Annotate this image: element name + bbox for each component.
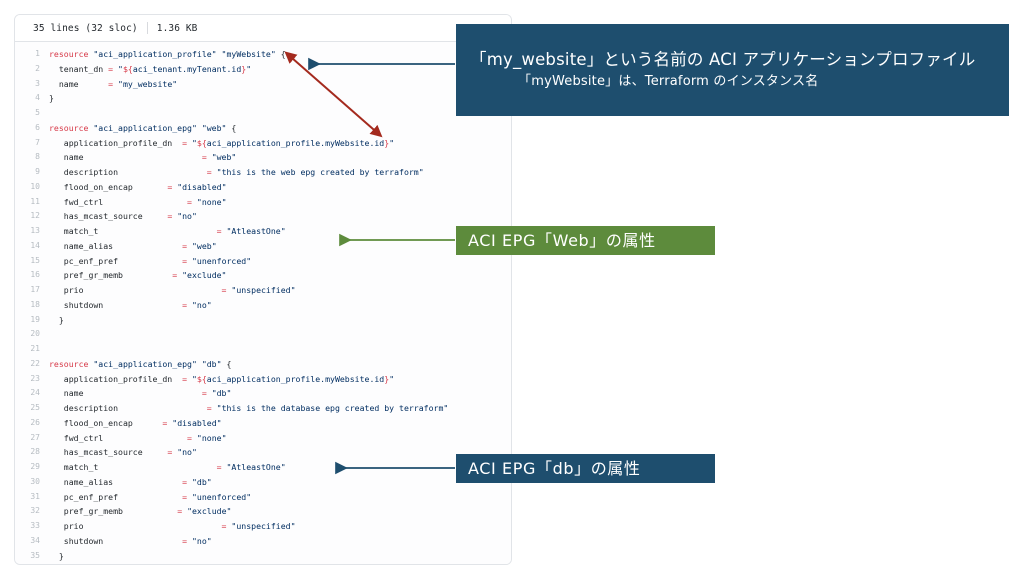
- file-size-label: 1.36 KB: [157, 23, 198, 34]
- line-number: 28: [15, 445, 49, 460]
- line-code: has_mcast_source = "no": [49, 445, 511, 460]
- code-line: 27 fwd_ctrl = "none": [15, 431, 511, 446]
- line-code: resource "aci_application_epg" "db" {: [49, 357, 511, 372]
- line-code: name_alias = "db": [49, 475, 511, 490]
- line-code: name = "my_website": [49, 77, 511, 92]
- code-line: 13 match_t = "AtleastOne": [15, 224, 511, 239]
- line-code: tenant_dn = "${aci_tenant.myTenant.id}": [49, 62, 511, 77]
- line-number: 19: [15, 313, 49, 328]
- line-code: pc_enf_pref = "unenforced": [49, 490, 511, 505]
- line-number: 29: [15, 460, 49, 475]
- code-line: 3 name = "my_website": [15, 77, 511, 92]
- line-number: 23: [15, 372, 49, 387]
- code-line: 21: [15, 342, 511, 357]
- line-number: 13: [15, 224, 49, 239]
- code-line: 25 description = "this is the database e…: [15, 401, 511, 416]
- code-line: 22resource "aci_application_epg" "db" {: [15, 357, 511, 372]
- code-line: 28 has_mcast_source = "no": [15, 445, 511, 460]
- line-code: match_t = "AtleastOne": [49, 224, 511, 239]
- code-line: 30 name_alias = "db": [15, 475, 511, 490]
- line-number: 17: [15, 283, 49, 298]
- code-line: 15 pc_enf_pref = "unenforced": [15, 254, 511, 269]
- code-line: 6resource "aci_application_epg" "web" {: [15, 121, 511, 136]
- code-line: 4}: [15, 91, 511, 106]
- line-number: 5: [15, 106, 49, 121]
- code-line: 26 flood_on_encap = "disabled": [15, 416, 511, 431]
- line-code: [49, 327, 511, 342]
- line-number: 30: [15, 475, 49, 490]
- callout-epg-web: ACI EPG「Web」の属性: [456, 226, 715, 255]
- line-code: application_profile_dn = "${aci_applicat…: [49, 136, 511, 151]
- line-code: name = "db": [49, 386, 511, 401]
- line-code: description = "this is the web epg creat…: [49, 165, 511, 180]
- code-line: 31 pc_enf_pref = "unenforced": [15, 490, 511, 505]
- line-number: 12: [15, 209, 49, 224]
- code-line: 17 prio = "unspecified": [15, 283, 511, 298]
- line-number: 33: [15, 519, 49, 534]
- code-line: 20: [15, 327, 511, 342]
- line-code: description = "this is the database epg …: [49, 401, 511, 416]
- line-number: 34: [15, 534, 49, 549]
- line-code: match_t = "AtleastOne": [49, 460, 511, 475]
- code-line: 7 application_profile_dn = "${aci_applic…: [15, 136, 511, 151]
- code-line: 8 name = "web": [15, 150, 511, 165]
- code-line: 29 match_t = "AtleastOne": [15, 460, 511, 475]
- code-line: 34 shutdown = "no": [15, 534, 511, 549]
- code-line: 23 application_profile_dn = "${aci_appli…: [15, 372, 511, 387]
- line-code: prio = "unspecified": [49, 283, 511, 298]
- line-number: 32: [15, 504, 49, 519]
- callout-profile-sub-text: 「myWebsite」は、Terraform のインスタンス名: [470, 71, 997, 93]
- line-number: 3: [15, 77, 49, 92]
- line-code: flood_on_encap = "disabled": [49, 180, 511, 195]
- line-number: 31: [15, 490, 49, 505]
- code-line: 12 has_mcast_source = "no": [15, 209, 511, 224]
- line-number: 25: [15, 401, 49, 416]
- line-code: has_mcast_source = "no": [49, 209, 511, 224]
- code-line: 1resource "aci_application_profile" "myW…: [15, 47, 511, 62]
- code-line: 2 tenant_dn = "${aci_tenant.myTenant.id}…: [15, 62, 511, 77]
- callout-profile-main-text: 「my_website」という名前の ACI アプリケーションプロファイル: [470, 48, 997, 71]
- line-number: 26: [15, 416, 49, 431]
- line-number: 8: [15, 150, 49, 165]
- line-code: [49, 106, 511, 121]
- line-code: }: [49, 549, 511, 564]
- code-line: 33 prio = "unspecified": [15, 519, 511, 534]
- line-number: 11: [15, 195, 49, 210]
- code-line: 5: [15, 106, 511, 121]
- callout-epg-db: ACI EPG「db」の属性: [456, 454, 715, 483]
- file-meta-header: 35 lines (32 sloc) 1.36 KB: [15, 15, 511, 42]
- line-number: 24: [15, 386, 49, 401]
- line-number: 2: [15, 62, 49, 77]
- line-code: name = "web": [49, 150, 511, 165]
- line-code: fwd_ctrl = "none": [49, 431, 511, 446]
- line-number: 20: [15, 327, 49, 342]
- line-number: 10: [15, 180, 49, 195]
- line-number: 16: [15, 268, 49, 283]
- line-number: 18: [15, 298, 49, 313]
- code-lines-container[interactable]: 1resource "aci_application_profile" "myW…: [15, 42, 511, 565]
- callout-db-label: ACI EPG「db」の属性: [468, 454, 715, 483]
- code-line: 14 name_alias = "web": [15, 239, 511, 254]
- line-code: flood_on_encap = "disabled": [49, 416, 511, 431]
- line-code: prio = "unspecified": [49, 519, 511, 534]
- line-code: }: [49, 91, 511, 106]
- line-code: }: [49, 313, 511, 328]
- line-number: 22: [15, 357, 49, 372]
- line-number: 7: [15, 136, 49, 151]
- line-code: application_profile_dn = "${aci_applicat…: [49, 372, 511, 387]
- callout-web-label: ACI EPG「Web」の属性: [468, 226, 715, 255]
- code-line: 10 flood_on_encap = "disabled": [15, 180, 511, 195]
- line-code: fwd_ctrl = "none": [49, 195, 511, 210]
- line-number: 21: [15, 342, 49, 357]
- line-code: pref_gr_memb = "exclude": [49, 504, 511, 519]
- meta-divider: [147, 22, 148, 34]
- line-code: name_alias = "web": [49, 239, 511, 254]
- line-number: 14: [15, 239, 49, 254]
- file-lines-label: 35 lines (32 sloc): [33, 23, 138, 34]
- code-file-panel: 35 lines (32 sloc) 1.36 KB 1resource "ac…: [14, 14, 512, 565]
- line-number: 6: [15, 121, 49, 136]
- code-line: 24 name = "db": [15, 386, 511, 401]
- line-number: 9: [15, 165, 49, 180]
- code-line: 35 }: [15, 549, 511, 564]
- line-number: 35: [15, 549, 49, 564]
- code-line: 9 description = "this is the web epg cre…: [15, 165, 511, 180]
- code-line: 16 pref_gr_memb = "exclude": [15, 268, 511, 283]
- line-number: 1: [15, 47, 49, 62]
- line-code: shutdown = "no": [49, 298, 511, 313]
- code-line: 11 fwd_ctrl = "none": [15, 195, 511, 210]
- line-code: pref_gr_memb = "exclude": [49, 268, 511, 283]
- code-line: 18 shutdown = "no": [15, 298, 511, 313]
- line-code: resource "aci_application_profile" "myWe…: [49, 47, 511, 62]
- code-line: 32 pref_gr_memb = "exclude": [15, 504, 511, 519]
- line-number: 4: [15, 91, 49, 106]
- callout-application-profile: 「my_website」という名前の ACI アプリケーションプロファイル 「m…: [456, 24, 1009, 116]
- line-code: resource "aci_application_epg" "web" {: [49, 121, 511, 136]
- line-number: 27: [15, 431, 49, 446]
- line-code: [49, 342, 511, 357]
- line-number: 15: [15, 254, 49, 269]
- line-code: pc_enf_pref = "unenforced": [49, 254, 511, 269]
- line-code: shutdown = "no": [49, 534, 511, 549]
- code-line: 19 }: [15, 313, 511, 328]
